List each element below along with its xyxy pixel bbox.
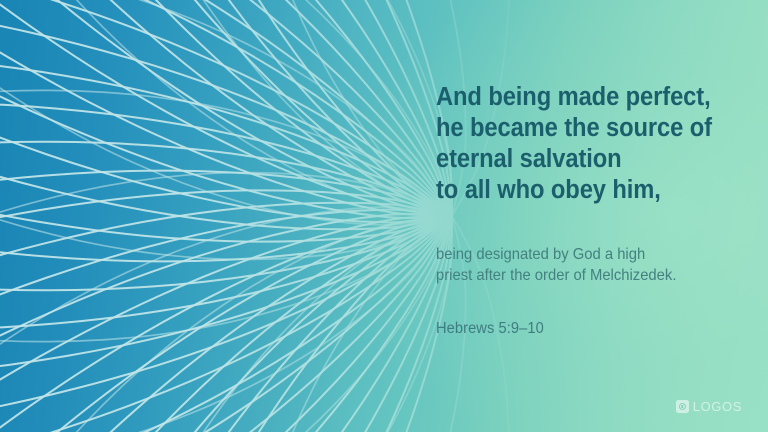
logos-wordmark: LOGOS [693, 399, 742, 414]
verse-citation: Hebrews 5:9–10 [436, 320, 544, 338]
verse-subquote: being designated by God a high priest af… [436, 244, 750, 286]
logos-circle-icon [676, 400, 689, 413]
verse-content: And being made perfect, he became the so… [436, 0, 754, 432]
verse-quote: And being made perfect, he became the so… [436, 82, 732, 206]
verse-image-canvas: And being made perfect, he became the so… [0, 0, 768, 432]
logos-branding: LOGOS [676, 399, 742, 414]
